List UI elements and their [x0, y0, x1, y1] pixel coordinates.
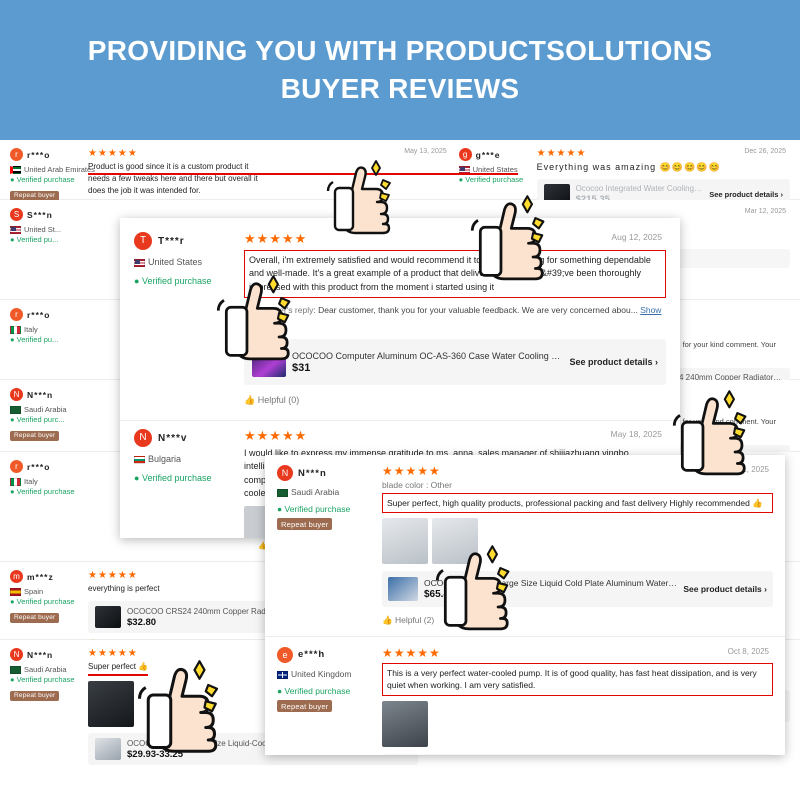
verified-badge: ● Verified pu...: [10, 335, 88, 344]
reviewer-identity: S S***n: [10, 208, 88, 221]
avatar: r: [10, 148, 23, 161]
review-text: Product is good since it is a custom pro…: [88, 161, 451, 197]
reviewer-name: N***v: [158, 433, 187, 444]
star-rating: ★★★★★: [382, 647, 773, 660]
star-rating: ★★★★★: [88, 148, 451, 159]
review-date: May 13, 2025: [404, 148, 446, 155]
avatar: N: [10, 388, 23, 401]
table-row[interactable]: r r***o United Arab Emirates ● Verified …: [0, 140, 800, 200]
reviewer-country: Bulgaria: [134, 453, 244, 467]
reviewer-name: N***n: [298, 468, 327, 479]
reviewer-name: T***r: [158, 236, 185, 247]
flag-icon: [10, 406, 21, 414]
review-body: Dec 26, 2025 ★★★★★ Everything was amazin…: [537, 148, 790, 191]
product-thumbnail: [95, 606, 121, 628]
review-photo[interactable]: [382, 518, 428, 564]
verified-badge: ● Verified purchase: [10, 175, 88, 184]
avatar: N: [134, 429, 152, 447]
review-card-n-n[interactable]: N N***n Saudi Arabia ● Verified purchase…: [265, 455, 785, 755]
review-photos: [382, 701, 773, 747]
banner-line-2: BUYER REVIEWS: [281, 70, 520, 108]
product-info: OCOCOO Custom Large Size Liquid Cold Pla…: [424, 578, 677, 600]
reviewer-identity: m m***z: [10, 570, 88, 583]
reviewer-country: Italy: [10, 324, 88, 335]
verified-badge: ● Verified purchase: [134, 276, 244, 286]
product-title: OCOCOO Computer Aluminum OC-AS-360 Case …: [292, 351, 563, 361]
reviewer-country: Saudi Arabia: [10, 404, 88, 415]
verified-badge: ● Verified purchase: [277, 504, 382, 514]
star-rating: ★★★★★: [244, 232, 666, 246]
avatar: T: [134, 232, 152, 250]
product-info: OCOCOO Computer Aluminum OC-AS-360 Case …: [292, 351, 563, 374]
reviewer-name: S***n: [27, 210, 53, 220]
reviewer-name: r***o: [27, 310, 50, 320]
reviewer-block: r r***o Italy ● Verified pu...: [10, 308, 88, 371]
reviewer-country: Saudi Arabia: [10, 664, 88, 675]
avatar: N: [10, 648, 23, 661]
star-rating: ★★★★★: [382, 465, 773, 478]
reviewer-block: N N***v Bulgaria ● Verified purchase: [134, 429, 244, 538]
flag-icon: [134, 456, 145, 464]
verified-badge: ● Verified purchase: [10, 597, 88, 606]
avatar: m: [10, 570, 23, 583]
reviewer-name: g***e: [476, 150, 501, 160]
reviewer-block: g g***e United States ● Verified purchas…: [459, 148, 537, 191]
reviewer-country: United Arab Emirates: [10, 164, 88, 175]
verified-badge: ● Verified purchase: [277, 686, 382, 696]
reviewer-identity: T T***r: [134, 232, 244, 250]
helpful-button[interactable]: 👍 Helpful (0): [244, 395, 666, 406]
product-card[interactable]: OCOCOO Custom Large Size Liquid Cold Pla…: [382, 571, 773, 607]
product-thumbnail: [388, 577, 418, 601]
review-date: Aug 12, 2025: [611, 232, 662, 242]
reviewer-country: United St...: [10, 224, 88, 235]
reviewer-identity: N N***n: [10, 388, 88, 401]
review-photo[interactable]: [432, 518, 478, 564]
review-photo[interactable]: [382, 701, 428, 747]
reviewer-block: r r***o United Arab Emirates ● Verified …: [10, 148, 88, 191]
see-product-details-link[interactable]: See product details ›: [569, 357, 658, 367]
product-thumbnail: [252, 347, 286, 377]
review-body: Aug 12, 2025 ★★★★★ Overall, i'm extremel…: [244, 232, 666, 406]
flag-icon: [277, 489, 288, 497]
verified-badge: ● Verified purchase: [459, 175, 537, 184]
review-text: Everything was amazing 😊😊😊😊😊: [537, 161, 790, 175]
flag-icon: [10, 478, 21, 486]
review-body: Oct 8, 2025 ★★★★★ This is a very perfect…: [382, 647, 773, 755]
reviewer-block: T T***r United States ● Verified purchas…: [134, 232, 244, 406]
reviewer-identity: r r***o: [10, 460, 88, 473]
verified-badge: ● Verified pu...: [10, 235, 88, 244]
flag-icon: [10, 666, 21, 674]
reviewer-country: Italy: [10, 476, 88, 487]
reviewer-name: N***n: [27, 650, 53, 660]
review-text: Overall, i'm extremely satisfied and wou…: [244, 250, 666, 298]
verified-badge: ● Verified purchase: [134, 473, 244, 483]
reviewer-block: N N***n Saudi Arabia ● Verified purchase…: [10, 648, 88, 742]
supplier-reply: ↰ Supplier's reply: Dear customer, thank…: [244, 304, 666, 330]
reviewer-name: r***o: [27, 462, 50, 472]
avatar: r: [10, 460, 23, 473]
flag-icon: [10, 588, 21, 596]
reviewer-block: r r***o Italy ● Verified purchase: [10, 460, 88, 553]
review-attribute: blade color : Other: [382, 480, 773, 490]
reviewer-block: N N***n Saudi Arabia ● Verified purchase…: [277, 465, 382, 626]
verified-badge: ● Verified purchase: [10, 487, 88, 496]
page-banner: PROVIDING YOU WITH PRODUCTSOLUTIONS BUYE…: [0, 0, 800, 140]
product-price: $65.41-72.68: [424, 589, 677, 600]
review-content: N N***n Saudi Arabia ● Verified purchase…: [265, 455, 785, 637]
review-date: May 18, 2025: [610, 429, 662, 439]
banner-line-1: PROVIDING YOU WITH PRODUCTSOLUTIONS: [88, 32, 712, 70]
product-thumbnail: [95, 738, 121, 760]
avatar: r: [10, 308, 23, 321]
see-product-details-link[interactable]: See product details ›: [683, 584, 767, 594]
flag-icon: [10, 166, 21, 174]
reviewer-name: e***h: [298, 649, 325, 660]
reviewer-country: United States: [134, 256, 244, 270]
reviewer-identity: e e***h: [277, 647, 382, 663]
avatar: N: [277, 465, 293, 481]
review-content: T T***r United States ● Verified purchas…: [120, 218, 680, 420]
reviewer-block: S S***n United St... ● Verified pu...: [10, 208, 88, 291]
flag-icon: [10, 226, 21, 234]
verified-badge: ● Verified purc...: [10, 415, 88, 424]
product-price: $31: [292, 362, 563, 374]
reviewer-block: e e***h United Kingdom ● Verified purcha…: [277, 647, 382, 755]
helpful-button[interactable]: 👍 Helpful (2): [382, 615, 773, 626]
review-date: Oct 8, 2025: [728, 647, 769, 656]
review-body: Dec 1, 2025 ★★★★★ blade color : Other Su…: [382, 465, 773, 626]
repeat-buyer-badge: Repeat buyer: [277, 518, 332, 530]
review-content: e e***h United Kingdom ● Verified purcha…: [265, 637, 785, 755]
reviewer-country: United Kingdom: [277, 668, 382, 681]
review-photos: [382, 518, 773, 564]
avatar: S: [10, 208, 23, 221]
reviewer-identity: r r***o: [10, 148, 88, 161]
reviewer-identity: N N***n: [277, 465, 382, 481]
see-product-details-link[interactable]: See product details ›: [709, 190, 783, 199]
reply-arrow-icon: ↰: [244, 305, 251, 315]
product-title: OCOCOO Custom Large Size Liquid Cold Pla…: [424, 578, 677, 588]
repeat-buyer-badge: Repeat buyer: [10, 613, 59, 623]
repeat-buyer-badge: Repeat buyer: [277, 700, 332, 712]
reviewer-identity: N N***v: [134, 429, 244, 447]
flag-icon: [134, 259, 145, 267]
avatar: g: [459, 148, 472, 161]
reviewer-identity: g g***e: [459, 148, 537, 161]
reviewer-identity: N N***n: [10, 648, 88, 661]
reviewer-block: N N***n Saudi Arabia ● Verified purc... …: [10, 388, 88, 443]
reviewer-name: m***z: [27, 572, 54, 582]
review-photo[interactable]: [88, 681, 134, 727]
flag-icon: [10, 326, 21, 334]
repeat-buyer-badge: Repeat buyer: [10, 431, 59, 441]
flag-icon: [277, 671, 288, 679]
review-date: Dec 26, 2025: [744, 148, 786, 155]
repeat-buyer-badge: Repeat buyer: [10, 691, 59, 701]
review-text: This is a very perfect water-cooled pump…: [382, 663, 773, 696]
avatar: e: [277, 647, 293, 663]
reviewer-identity: r r***o: [10, 308, 88, 321]
product-card[interactable]: OCOCOO Computer Aluminum OC-AS-360 Case …: [244, 339, 666, 385]
reviewer-country: Saudi Arabia: [277, 486, 382, 499]
reviewer-country: Spain: [10, 586, 88, 597]
product-title: Ococoo Integrated Water Cooling System E…: [576, 184, 704, 193]
reviewer-name: r***o: [27, 150, 50, 160]
review-date: Dec 1, 2025: [726, 465, 769, 474]
product-card[interactable]: OCOCOO OC-55A Large Flow PWM Computer Li…: [382, 754, 773, 755]
reviewer-name: N***n: [27, 390, 53, 400]
reviewer-block: m m***z Spain ● Verified purchase Repeat…: [10, 570, 88, 631]
review-body: May 13, 2025 ★★★★★ Product is good since…: [88, 148, 451, 191]
review-text: Super perfect, high quality products, pr…: [382, 493, 773, 513]
verified-badge: ● Verified purchase: [10, 675, 88, 684]
star-rating: ★★★★★: [244, 429, 666, 443]
review-date: Mar 12, 2025: [745, 208, 786, 215]
